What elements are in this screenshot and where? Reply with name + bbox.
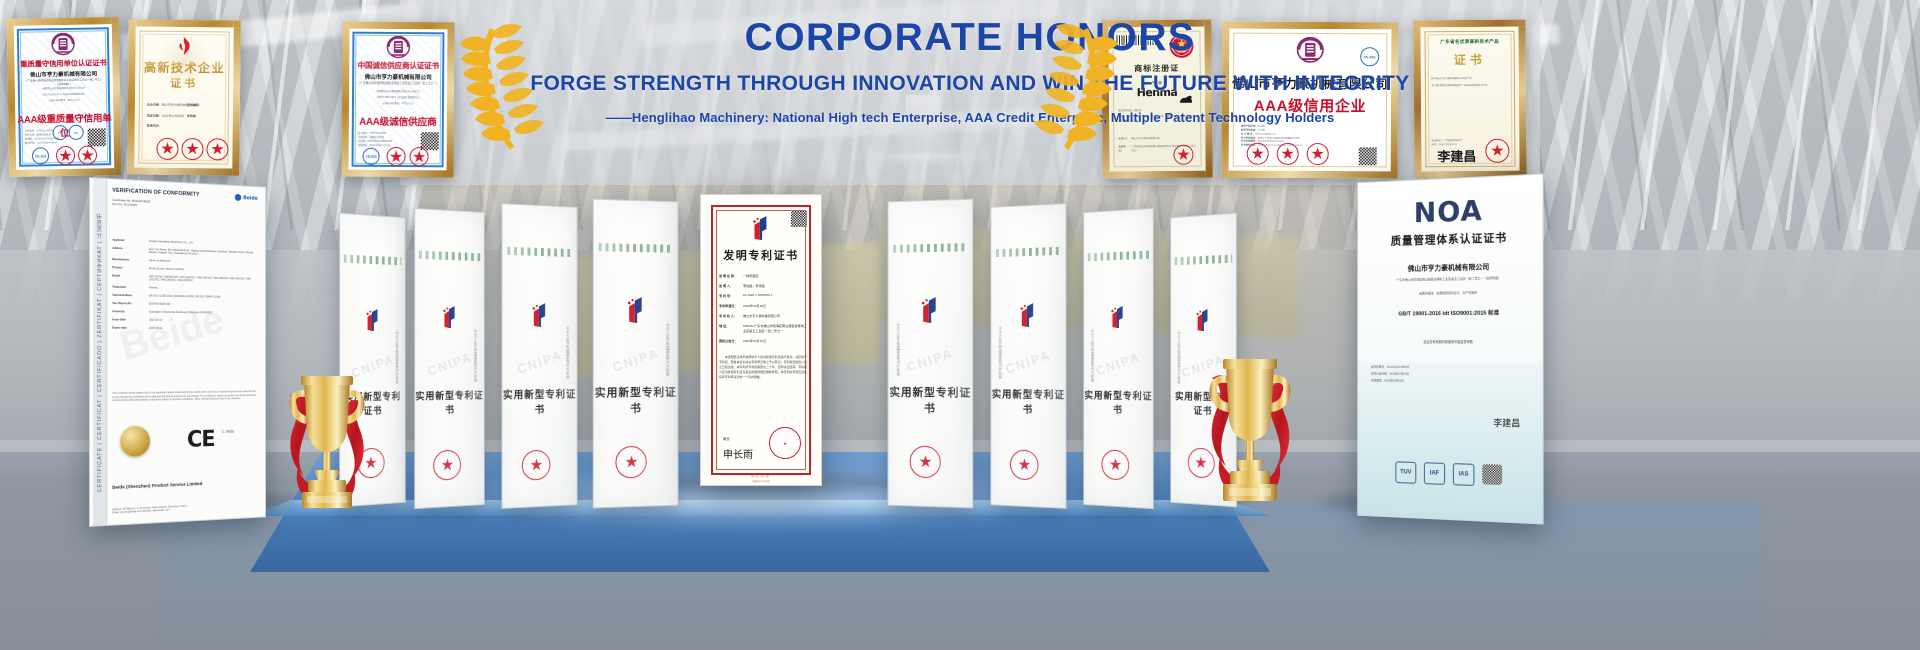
- row-label: Issued by: [112, 310, 146, 313]
- standing-certificate-noa-iso[interactable]: NOA 质量管理体系认证证书 佛山市亨力豪机械有限公司 广东省佛山市南海区狮山镇…: [1357, 173, 1543, 524]
- header-block: CORPORATE HONORS FORGE STRENGTH THROUGH …: [430, 18, 1510, 125]
- patent-side-text: 中华人民共和国国家知识产权局: [998, 326, 1003, 379]
- ce-mark-icon: CE: [187, 427, 215, 453]
- label-valid: 有效期:: [187, 114, 197, 119]
- vine-ornament: [996, 247, 1061, 257]
- row-label: Address: [112, 247, 146, 254]
- page-subtitle: FORGE STRENGTH THROUGH INNOVATION AND WI…: [430, 72, 1510, 96]
- cert-body-2: （GB/T31950-2015《企业诚信管理体系》）: [359, 96, 437, 100]
- noa-signature: 李建昌: [1493, 416, 1520, 430]
- red-seal: ★: [1307, 143, 1329, 165]
- patent-p-logo-icon: [530, 302, 551, 328]
- row-value: EN ISO 12100:2010, EN 60204-1:2018, EN I…: [149, 294, 220, 298]
- patent-title: 实用新型专利证书: [1084, 388, 1153, 417]
- vine-ornament: [344, 255, 401, 266]
- noa-certno-label: 证书注册号：: [1371, 365, 1387, 369]
- patent-p-logo-icon: [1194, 308, 1212, 332]
- invention-body: 本发明经过本局依照中华人民共和国专利法进行审查，决定授予专利权，颁发本证书并在专…: [719, 355, 807, 380]
- patent-watermark: CNIPA: [426, 350, 474, 380]
- row-value: HM-70CNC / HM-90CNC / HM-100CNC / HM-120…: [149, 275, 258, 283]
- invention-title: 发明专利证书: [701, 247, 821, 263]
- cert-note: （广东佛山市南海区狮山镇官窑驿岗工业区第五工业区一街二号之一（住所申报））: [23, 77, 105, 86]
- field-value: 李建昌；李伟强: [743, 283, 765, 288]
- noa-note: 此证在有效期内需接受年度监督审核: [1358, 339, 1542, 344]
- field-value: 2022年03月15日: [743, 338, 766, 343]
- invention-footer: 第 1 页（共 1 页）: [701, 474, 821, 478]
- noa-logo: NOA: [1358, 191, 1542, 231]
- invention-fields: 发 明 名 称：一种带锯床 发 明 人：李建昌；李伟强 专 利 号：ZL 202…: [719, 273, 807, 343]
- standing-certificate-utility-patent-6[interactable]: 实用新型专利证书 中华人民共和国国家知识产权局 CNIPA ★: [990, 203, 1066, 509]
- credit-emblem-icon: [50, 33, 76, 57]
- row-value: Same as Applicant: [149, 259, 171, 263]
- ce-legal-text: This certificate results applies only to…: [112, 390, 256, 403]
- label-f2: 信用评价等级：: [1241, 128, 1258, 131]
- ce-side-strip: CERTIFICATE | CERTIFICAT | CERTIFICADO |…: [93, 178, 107, 525]
- red-seal: ★: [78, 145, 97, 164]
- patent-watermark: CNIPA: [515, 347, 564, 377]
- patent-title: 实用新型专利证书: [888, 384, 972, 417]
- row-value: BJSHVC4E05-MD: [149, 303, 170, 306]
- red-seal: ★: [1102, 449, 1130, 480]
- patent-p-logo-icon: [624, 295, 647, 323]
- red-seal: ★: [1277, 143, 1299, 165]
- row-label: Trademark: [112, 286, 146, 290]
- ce-docno-label: Doc No.: [112, 202, 123, 207]
- patent-p-logo-icon: [750, 215, 772, 241]
- gold-embossed-seal: [120, 426, 150, 457]
- patent-watermark: CNIPA: [1094, 350, 1142, 379]
- qr-code: [1359, 147, 1377, 165]
- row-value: No.2 1st Street, 5th Industrial Zone, Yi…: [149, 248, 258, 257]
- cert-heading-2: 证书: [135, 74, 233, 91]
- value-date: 2022年12月20日: [162, 113, 184, 118]
- field-value: 佛山市亨力豪机械有限公司: [743, 313, 780, 318]
- label-company: 企业名称:: [147, 103, 160, 108]
- signature: 李建昌: [1437, 146, 1476, 165]
- value-f1: AAA级: [1258, 125, 1265, 128]
- label-date: 发证日期:: [147, 113, 160, 118]
- red-seal: ★: [769, 427, 801, 459]
- field-label: 专利申请日：: [719, 303, 743, 308]
- field-value: 一种带锯床: [743, 273, 758, 278]
- patent-p-logo-icon: [441, 305, 460, 329]
- value-f3: HXFCXL2RMGXU2: [1255, 132, 1276, 135]
- laurel-wreath-icon: [452, 22, 562, 157]
- row-value: Henma: [149, 286, 157, 289]
- badge-ce: CE‑25S: [363, 148, 380, 165]
- vine-ornament: [599, 243, 673, 253]
- logo-tuv: TUV: [1395, 461, 1416, 483]
- standing-certificate-ce-verification[interactable]: CERTIFICATE | CERTIFICAT | CERTIFICADO |…: [89, 177, 266, 527]
- framed-certificate-quality-credit-unit[interactable]: 重质量守信用单位认证证书 佛山市亨力豪机械有限公司 （广东佛山市南海区狮山镇官窑…: [7, 17, 122, 177]
- patent-p-logo-icon: [1109, 305, 1128, 329]
- field-label: 地 址：: [719, 323, 743, 333]
- field-value: ZL 2020 1 0556789.3: [743, 293, 772, 298]
- qr-code: [1482, 464, 1502, 485]
- vine-ornament: [1088, 251, 1148, 261]
- row-value: Metal circular sawing machine: [149, 267, 184, 271]
- noa-bottom-area: [1358, 362, 1542, 523]
- value-f2: AAA级: [1258, 129, 1265, 132]
- credit-emblem-icon: [385, 36, 411, 60]
- row-value: Foshan Henglihao Machinery Co., Ltd.: [149, 240, 193, 245]
- row-label: Applicant: [112, 239, 146, 243]
- patent-side-text: 中华人民共和国国家知识产权局: [1090, 329, 1095, 382]
- noa-standard: GB/T 19001-2016 idt ISO9001:2015 标准: [1358, 308, 1542, 318]
- patent-watermark: CNIPA: [611, 345, 661, 375]
- vine-ornament: [419, 251, 479, 261]
- field-label: 专 利 号：: [719, 293, 743, 298]
- standing-certificate-utility-patent-4[interactable]: 实用新型专利证书 中华人民共和国国家知识产权局 CNIPA ★: [593, 199, 679, 509]
- cert-body-1: 经国家企业信用管理体系评价中心评定为: [359, 90, 437, 94]
- invention-sign-label: 局长: [723, 436, 730, 441]
- noa-valid: 有效期至：2025年05月15日: [1371, 378, 1409, 382]
- patent-side-text: 中华人民共和国国家知识产权局: [565, 326, 570, 379]
- row-label: Model: [112, 274, 146, 281]
- cert-body-1: 经国家企业信用管理体系评价中心评定为: [25, 86, 103, 91]
- row-label: Test Report No.: [112, 302, 146, 306]
- red-seal: ★: [181, 138, 203, 160]
- patent-side-text: 中华人民共和国国家知识产权局: [665, 323, 670, 376]
- red-seal: ★: [1173, 145, 1193, 165]
- noa-certno: 00122Q30215R0M: [1387, 365, 1409, 369]
- patent-watermark: CNIPA: [905, 345, 955, 375]
- qr-code: [791, 211, 807, 227]
- ce-signature: C. Willis: [222, 430, 234, 434]
- ce-title: VERIFICATION OF CONFORMITY: [112, 188, 199, 198]
- standing-certificate-utility-patent-5[interactable]: 实用新型专利证书 中华人民共和国国家知识产权局 CNIPA ★: [888, 199, 974, 509]
- field-value: 2020年06月18日: [743, 303, 766, 308]
- red-seal: ★: [1485, 139, 1509, 163]
- red-seal: ★: [522, 450, 551, 481]
- standing-certificate-utility-patent-2[interactable]: 实用新型专利证书 中华人民共和国国家知识产权局 CNIPA ★: [414, 208, 484, 509]
- patent-title: 实用新型专利证书: [415, 388, 484, 417]
- patent-title: 实用新型专利证书: [502, 386, 576, 417]
- red-seal: ★: [56, 146, 75, 165]
- standing-certificate-utility-patent-3[interactable]: 实用新型专利证书 中华人民共和国国家知识产权局 CNIPA ★: [501, 203, 577, 509]
- framed-certificate-high-tech-enterprise[interactable]: 高新技术企业 证书 企业名称:佛山市亨力豪机械有限公司 发证日期:2022年12…: [127, 19, 241, 175]
- ce-docno: ECCV001: [124, 202, 137, 207]
- logo-ias: IAS: [1453, 463, 1475, 486]
- trophy-icon: [1204, 352, 1296, 524]
- patent-p-logo-icon: [364, 308, 382, 332]
- cert-heading: 重质量守信用单位认证证书: [14, 57, 112, 70]
- red-seal: ★: [910, 446, 941, 479]
- laurel-wreath-icon: [1016, 22, 1126, 157]
- patent-watermark: CNIPA: [1004, 347, 1053, 376]
- label-cert-no: 证书编号:: [187, 103, 200, 108]
- cert-heading: 高新技术企业: [135, 56, 233, 76]
- patent-p-logo-icon: [1018, 302, 1039, 328]
- row-label: Product: [112, 266, 146, 270]
- patent-p-logo-icon: [918, 295, 941, 323]
- patent-side-text: 中华人民共和国国家知识产权局: [896, 323, 901, 376]
- ce-footer-2: Address: 2/F Block A, Li Jin Center, Fut…: [112, 501, 258, 514]
- standing-certificate-utility-patent-7[interactable]: 实用新型专利证书 中华人民共和国国家知识产权局 CNIPA ★: [1083, 208, 1153, 509]
- vine-ornament: [1175, 255, 1232, 266]
- patent-title: 实用新型专利证书: [594, 384, 678, 417]
- ce-footer: Beide (Shenzhen) Product Service Limited: [112, 479, 258, 490]
- cert-body-2: （GB/T31950-2015《企业诚信管理体系》）: [25, 92, 103, 97]
- page-title: CORPORATE HONORS: [430, 18, 1510, 59]
- row-label: Manufacturer: [112, 258, 146, 262]
- label-authority: 批准机关:: [147, 124, 160, 129]
- flame-logo-icon: [176, 37, 192, 55]
- field-label: 专 利 权 人：: [719, 313, 743, 318]
- red-seal: ★: [387, 147, 406, 166]
- field-label: 授权公告日：: [719, 338, 743, 343]
- red-seal: ★: [616, 446, 647, 479]
- page-tagline: ——Henglihao Machinery: National High tec…: [430, 110, 1510, 125]
- patent-side-text: 中华人民共和国国家知识产权局: [473, 329, 478, 382]
- red-seal: ★: [156, 138, 178, 160]
- red-seal: ★: [410, 147, 429, 166]
- cert-body-3: 认证标准的要求，特予以公示: [359, 101, 437, 105]
- qr-code: [88, 128, 106, 146]
- label-f3: 证 书 编 号：: [1241, 132, 1255, 135]
- red-seal: ★: [433, 450, 461, 481]
- patent-side-text: 中华人民共和国国家知识产权局: [1177, 331, 1181, 384]
- noa-issue: 初次认证日期：2022年05月16日: [1371, 372, 1409, 376]
- field-label: 发 明 名 称：: [719, 273, 743, 278]
- ce-side-text: CERTIFICATE | CERTIFICAT | CERTIFICADO |…: [96, 212, 104, 492]
- label-f1: 信用产品名称：: [1241, 125, 1258, 128]
- cert-note: （广东佛山市南海区狮山镇官窑驿岗工业区第五工业区一街二号之一）: [357, 81, 439, 86]
- red-seal: ★: [1247, 143, 1269, 165]
- vine-ornament: [507, 247, 572, 257]
- patent-side-text: 中华人民共和国国家知识产权局: [395, 331, 399, 384]
- ce-brand: Beide: [243, 195, 258, 202]
- field-value: 528000 广东省佛山市南海区狮山镇官窑驿岗工业区第五工业区一街二号之一: [743, 323, 807, 333]
- field-label: 发 明 人：: [719, 283, 743, 288]
- red-seal: ★: [1010, 449, 1038, 480]
- vine-ornament: [893, 243, 967, 253]
- invention-signature: 申长雨: [723, 446, 753, 461]
- value-owner: 佛山市亨力豪机械有限公司: [1131, 137, 1160, 141]
- row-label: Technical Basis: [112, 294, 146, 298]
- logo-iaf: IAF: [1424, 462, 1445, 485]
- corporate-honors-banner: CORPORATE HONORS FORGE STRENGTH THROUGH …: [0, 0, 1920, 650]
- trophy-icon: [284, 368, 370, 528]
- patent-title: 实用新型专利证书: [991, 386, 1065, 417]
- standing-certificate-invention-patent[interactable]: 发明专利证书 发 明 名 称：一种带锯床 发 明 人：李建昌；李伟强 专 利 号…: [700, 194, 822, 486]
- red-seal: ★: [206, 138, 228, 160]
